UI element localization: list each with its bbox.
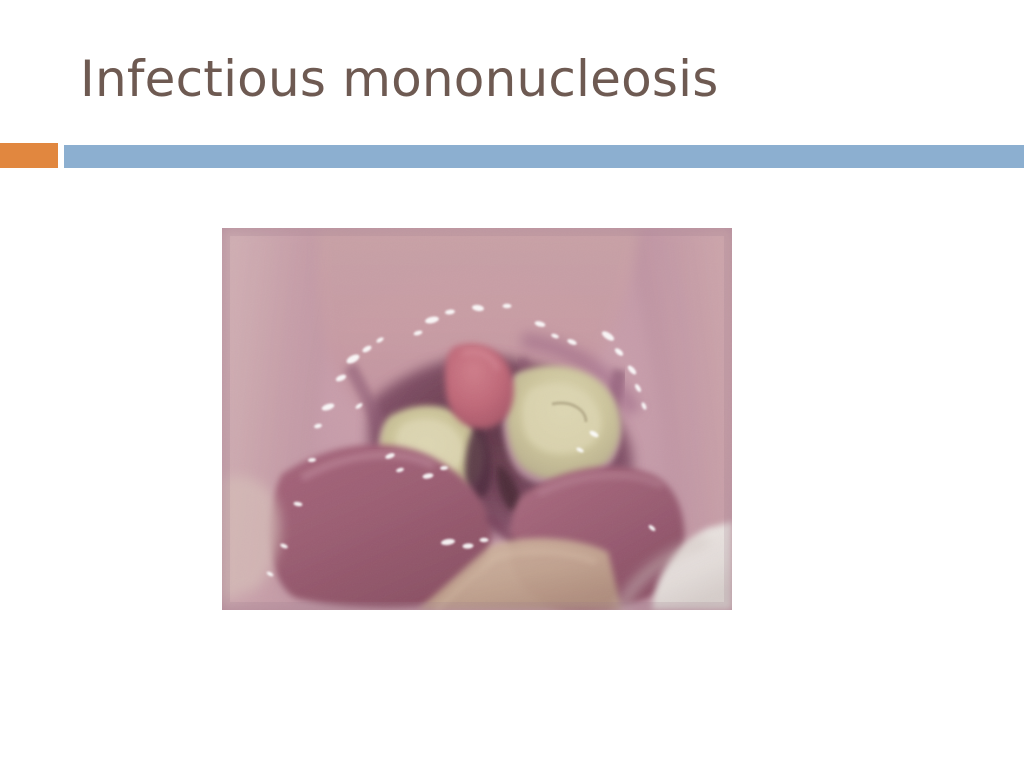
slide-canvas: Infectious mononucleosis [0,0,1024,767]
page-title: Infectious mononucleosis [80,46,960,116]
clinical-photograph-oropharynx [222,228,732,610]
photo-illustration [222,228,732,610]
accent-bar-blue [64,145,1024,168]
accent-bar-orange [0,143,58,168]
